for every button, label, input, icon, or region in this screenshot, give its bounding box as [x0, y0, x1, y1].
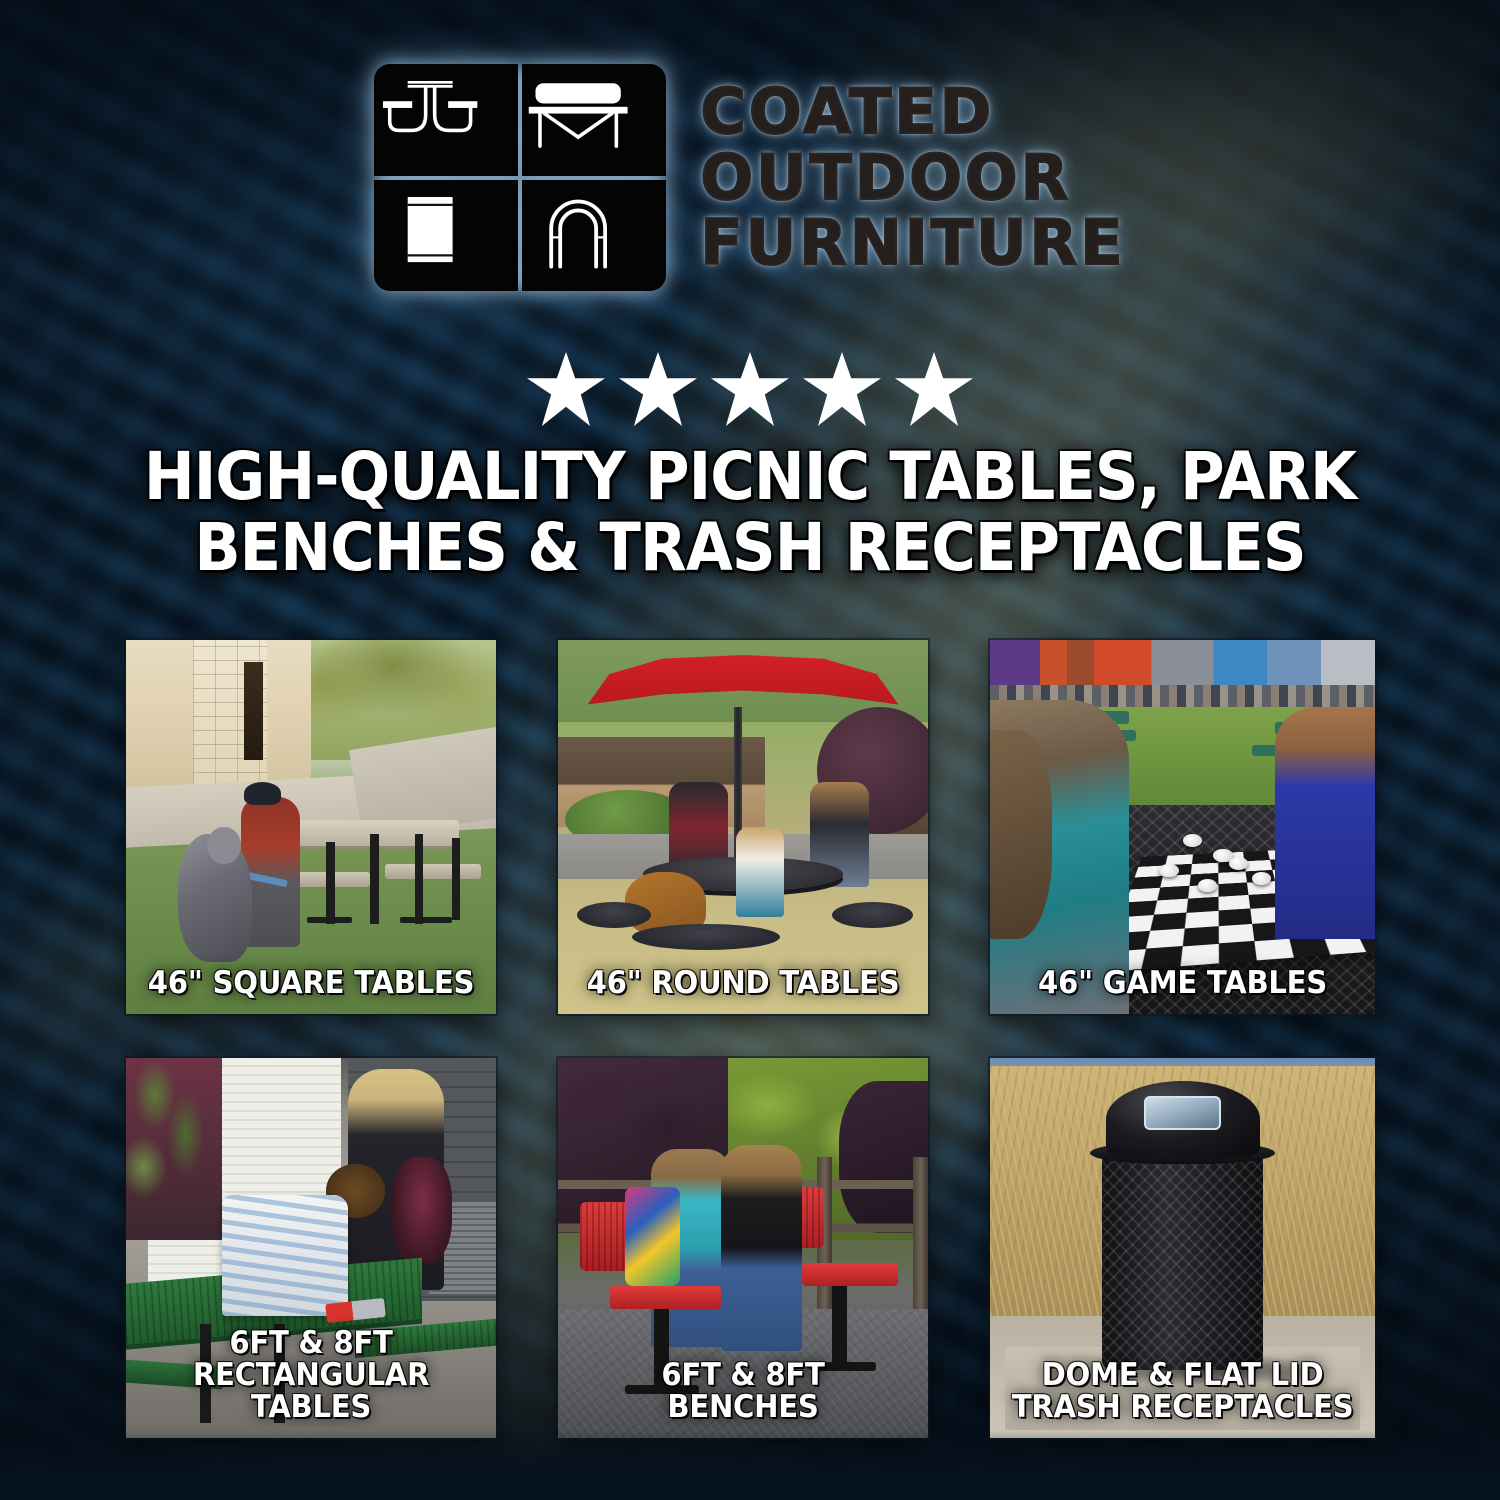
caption-line-1: 46" ROUND TABLES — [575, 968, 912, 1000]
product-caption: 46" ROUND TABLES — [575, 968, 912, 1000]
bench-icon — [522, 72, 666, 167]
bottom-fade — [0, 1430, 1500, 1500]
logo-cell-trash-receptacle — [374, 180, 518, 292]
star-icon — [895, 352, 973, 426]
brand-name-line-1: COATED — [700, 80, 1125, 144]
brand-name-line-2: OUTDOOR — [700, 146, 1125, 210]
product-photo-round-tables — [558, 640, 928, 1014]
caption-line-1: 6FT & 8FT — [143, 1328, 480, 1360]
star-icon — [527, 352, 605, 426]
star-icon — [803, 352, 881, 426]
product-tile-rectangular-tables[interactable]: 6FT & 8FT RECTANGULAR TABLES — [126, 1058, 496, 1438]
product-caption: DOME & FLAT LID TRASH RECEPTACLES — [1007, 1360, 1358, 1424]
logo-cell-picnic-table — [374, 64, 518, 176]
product-caption: 46" GAME TABLES — [1007, 968, 1358, 1000]
product-caption: 46" SQUARE TABLES — [143, 968, 480, 1000]
caption-line-2: TRASH RECEPTACLES — [1007, 1392, 1358, 1424]
trash-receptacle-icon — [374, 188, 518, 283]
logo-cell-bike-rack — [522, 180, 666, 292]
product-photo-square-tables — [126, 640, 496, 1014]
headline-line-2: BENCHES & TRASH RECEPTACLES — [60, 513, 1440, 584]
product-grid: 46" SQUARE TABLES 46" ROUND TABLES — [126, 640, 1375, 1440]
caption-line-1: DOME & FLAT LID — [1007, 1360, 1358, 1392]
brand-logo-mark — [374, 64, 666, 291]
product-caption: 6FT & 8FT RECTANGULAR TABLES — [143, 1328, 480, 1424]
marketing-banner: COATED OUTDOOR FURNITURE HIGH-QUALITY PI… — [0, 0, 1500, 1500]
product-tile-trash-receptacles[interactable]: DOME & FLAT LID TRASH RECEPTACLES — [990, 1058, 1375, 1438]
logo-cell-bench — [522, 64, 666, 176]
caption-line-1: 46" GAME TABLES — [1007, 968, 1358, 1000]
rating-stars — [0, 352, 1500, 426]
brand-wordmark: COATED OUTDOOR FURNITURE — [700, 80, 1125, 276]
picnic-table-icon — [374, 72, 518, 167]
product-tile-benches[interactable]: 6FT & 8FT BENCHES — [558, 1058, 928, 1438]
caption-line-1: 6FT & 8FT — [575, 1360, 912, 1392]
brand-header: COATED OUTDOOR FURNITURE — [0, 64, 1500, 291]
product-tile-game-tables[interactable]: 46" GAME TABLES — [990, 640, 1375, 1014]
caption-line-2: RECTANGULAR TABLES — [143, 1360, 480, 1424]
brand-name-line-3: FURNITURE — [700, 211, 1125, 275]
product-photo-game-tables — [990, 640, 1375, 1014]
product-tile-round-tables[interactable]: 46" ROUND TABLES — [558, 640, 928, 1014]
headline-line-1: HIGH-QUALITY PICNIC TABLES, PARK — [60, 442, 1440, 513]
product-caption: 6FT & 8FT BENCHES — [575, 1360, 912, 1424]
page-headline: HIGH-QUALITY PICNIC TABLES, PARK BENCHES… — [60, 442, 1440, 583]
caption-line-2: BENCHES — [575, 1392, 912, 1424]
caption-line-1: 46" SQUARE TABLES — [143, 968, 480, 1000]
star-icon — [619, 352, 697, 426]
bike-rack-icon — [522, 188, 666, 283]
star-icon — [711, 352, 789, 426]
product-tile-square-tables[interactable]: 46" SQUARE TABLES — [126, 640, 496, 1014]
